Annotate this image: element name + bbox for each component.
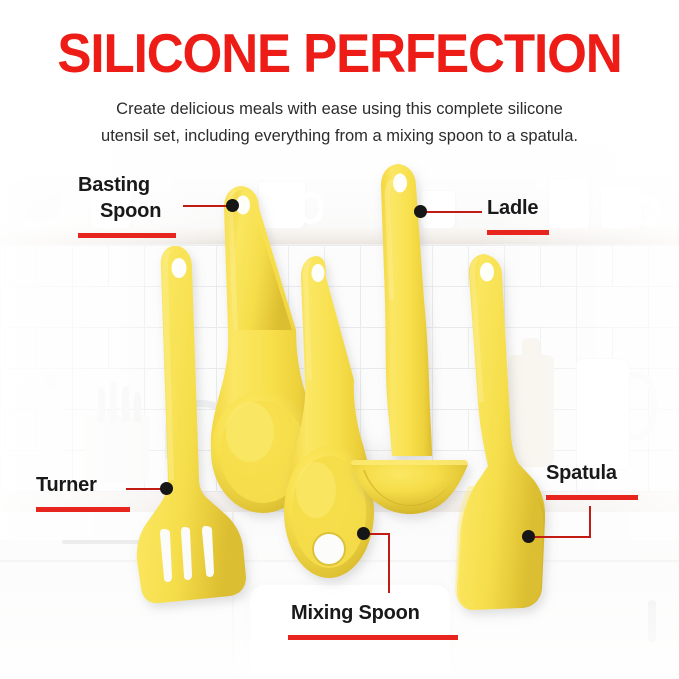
callout-basting-spoon-rule (78, 233, 176, 238)
callout-ladle[interactable]: Ladle (487, 196, 549, 235)
callout-mixing-spoon-label: Mixing Spoon (291, 601, 458, 627)
callout-turner-rule (36, 507, 130, 512)
callout-basting-spoon-line-1: Basting (78, 174, 150, 196)
callout-spatula[interactable]: Spatula (546, 461, 638, 500)
callout-turner-label: Turner (36, 473, 130, 499)
callout-spatula-rule (546, 495, 638, 500)
callout-spatula-label: Spatula (546, 461, 638, 487)
callout-basting-spoon-line-2: Spoon (100, 198, 161, 224)
callout-basting-spoon[interactable]: Basting Spoon (78, 172, 176, 238)
leader-mixing-spoon-line-vertical (388, 533, 390, 593)
leader-mixing-spoon (0, 0, 679, 679)
callout-basting-spoon-label: Basting Spoon (78, 172, 176, 224)
leader-mixing-spoon-dot (357, 527, 370, 540)
callout-turner[interactable]: Turner (36, 473, 130, 512)
callout-ladle-label: Ladle (487, 196, 549, 222)
product-infographic: SILICONE PERFECTION Create delicious mea… (0, 0, 679, 679)
callout-mixing-spoon-rule (288, 635, 458, 640)
callout-mixing-spoon[interactable]: Mixing Spoon (291, 601, 458, 640)
leader-mixing-spoon-line-horizontal (368, 533, 390, 535)
callout-ladle-rule (487, 230, 549, 235)
